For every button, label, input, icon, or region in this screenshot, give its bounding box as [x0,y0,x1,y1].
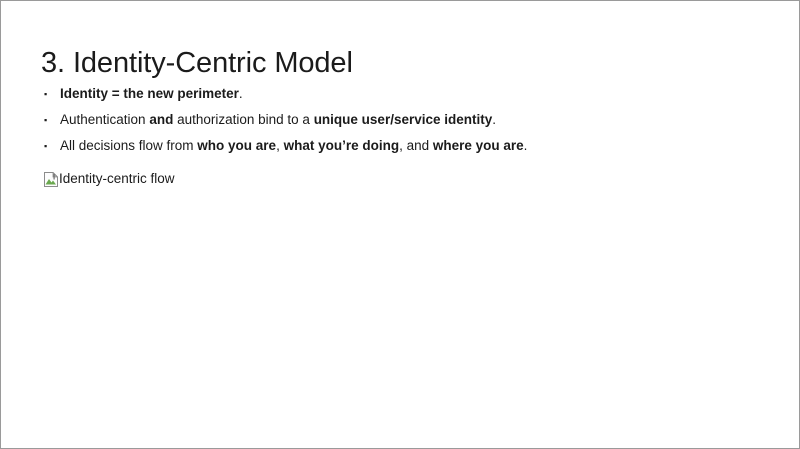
bullet-square-icon: ▪ [44,107,60,133]
list-item-segment: All decisions flow from [60,138,197,153]
list-item-segment: Identity = the new perimeter [60,86,239,101]
list-item-segment: who you are [197,138,276,153]
bullet-square-icon: ▪ [44,81,60,107]
broken-image-icon [44,172,58,187]
broken-image-placeholder: Identity-centric flow [44,169,175,189]
page-title: 3. Identity-Centric Model [41,46,353,80]
list-item-segment: Authentication [60,112,149,127]
list-item-segment: unique user/service identity [314,112,493,127]
list-item-segment: . [524,138,528,153]
list-item-text: Identity = the new perimeter. [60,81,243,107]
list-item: ▪ All decisions flow from who you are, w… [44,133,527,159]
slide-canvas: 3. Identity-Centric Model ▪ Identity = t… [0,0,800,449]
list-item-segment: what you’re doing [284,138,400,153]
broken-image-alt-text: Identity-centric flow [59,169,175,189]
list-item-segment: , [276,138,284,153]
list-item-segment: where you are [433,138,524,153]
bullet-square-icon: ▪ [44,133,60,159]
list-item-segment: authorization bind to a [173,112,313,127]
list-item: ▪ Authentication and authorization bind … [44,107,527,133]
list-item: ▪ Identity = the new perimeter. [44,81,527,107]
list-item-segment: and [149,112,173,127]
list-item-text: All decisions flow from who you are, wha… [60,133,527,159]
bullet-list: ▪ Identity = the new perimeter. ▪ Authen… [44,81,527,159]
list-item-segment: , and [399,138,433,153]
list-item-segment: . [492,112,496,127]
list-item-segment: . [239,86,243,101]
list-item-text: Authentication and authorization bind to… [60,107,496,133]
